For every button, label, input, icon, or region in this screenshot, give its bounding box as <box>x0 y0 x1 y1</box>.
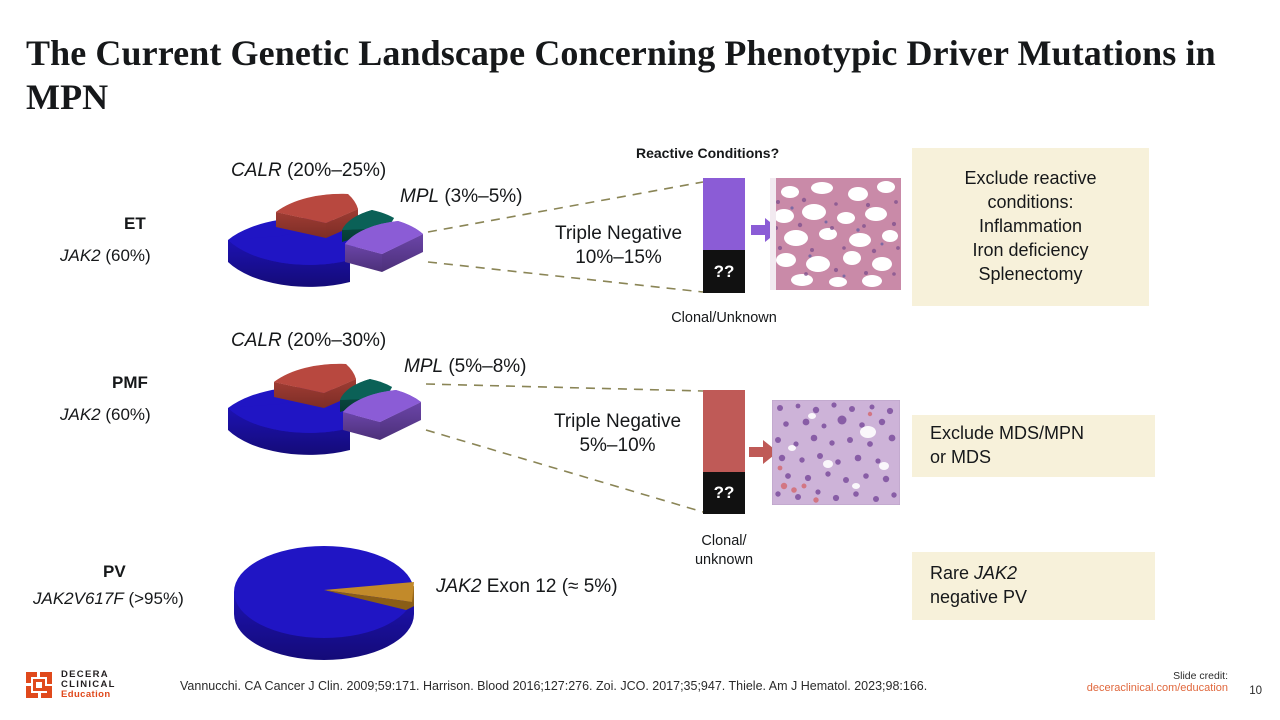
slide-credit-url[interactable]: deceraclinical.com/education <box>1087 682 1228 694</box>
disease-label-pmf: PMF <box>112 373 148 393</box>
bar-segment-triple-negative-et <box>703 178 745 250</box>
triple-negative-pmf-line2: 5%–10% <box>530 434 705 458</box>
callout-et-line3: Inflammation <box>964 215 1096 239</box>
histology-image-et <box>770 178 901 290</box>
callout-et-line5: Splenectomy <box>964 263 1096 287</box>
page-number: 10 <box>1249 685 1262 697</box>
slide-credit: Slide credit: deceraclinical.com/educati… <box>1087 670 1228 694</box>
bar-segment-triple-negative-pmf <box>703 390 745 472</box>
pie-chart-pv <box>228 548 433 653</box>
disease-label-pv: PV <box>103 562 126 582</box>
brand-logo-text: DECERA CLINICAL Education <box>61 670 116 700</box>
disease-sub-pmf-pct: (60%) <box>101 405 151 424</box>
disease-label-et: ET <box>124 214 146 234</box>
callout-pv-line1: Rare JAK2 <box>930 562 1027 586</box>
slide-title: The Current Genetic Landscape Concerning… <box>26 32 1216 120</box>
histology-image-pmf <box>772 400 900 505</box>
reactive-conditions-header: Reactive Conditions? <box>636 145 779 161</box>
slide-credit-label: Slide credit: <box>1087 670 1228 682</box>
pie-chart-pmf <box>222 352 437 472</box>
triple-negative-et-line1: Triple Negative <box>531 222 706 246</box>
disease-sub-et-gene: JAK2 <box>60 246 101 265</box>
logo-line-3: Education <box>61 690 116 700</box>
calr-label-pmf: CALR (20%–30%) <box>231 330 386 352</box>
mpl-pct-pmf: (5%–8%) <box>443 356 526 377</box>
brand-logo: DECERA CLINICAL Education <box>24 670 116 700</box>
callout-pv-pre: Rare <box>930 563 974 583</box>
triple-negative-pmf-line1: Triple Negative <box>530 410 705 434</box>
triple-negative-label-pmf: Triple Negative 5%–10% <box>530 410 705 458</box>
exon12-gene-pv: JAK2 <box>436 576 481 597</box>
callout-box-pmf: Exclude MDS/MPN or MDS <box>912 415 1155 477</box>
exon12-rest-pv: Exon 12 (≈ 5%) <box>481 576 617 597</box>
bar-caption-pmf-line1: Clonal/ <box>662 532 786 551</box>
disease-sub-pv-gene: JAK2V617F <box>33 589 124 608</box>
triple-negative-et-line2: 10%–15% <box>531 246 706 270</box>
slide-root: The Current Genetic Landscape Concerning… <box>0 0 1280 720</box>
citation-text: Vannucchi. CA Cancer J Clin. 2009;59:171… <box>180 679 927 693</box>
disease-sub-et: JAK2 (60%) <box>60 246 151 266</box>
callout-et-line2: conditions: <box>964 191 1096 215</box>
callout-pmf-line1: Exclude MDS/MPN <box>930 422 1084 446</box>
callout-text-pmf: Exclude MDS/MPN or MDS <box>930 422 1084 470</box>
bar-segment-unknown-et: ?? <box>703 250 745 293</box>
callout-box-et: Exclude reactive conditions: Inflammatio… <box>912 148 1149 306</box>
calr-gene-pmf: CALR <box>231 330 282 351</box>
disease-sub-pmf: JAK2 (60%) <box>60 405 151 425</box>
bar-caption-pmf: Clonal/ unknown <box>662 532 786 569</box>
callout-text-et: Exclude reactive conditions: Inflammatio… <box>964 167 1096 287</box>
callout-box-pv: Rare JAK2 negative PV <box>912 552 1155 620</box>
callout-text-pv: Rare JAK2 negative PV <box>930 562 1027 610</box>
calr-gene-et: CALR <box>231 160 282 181</box>
calr-pct-et: (20%–25%) <box>282 160 387 181</box>
bar-caption-et: Clonal/Unknown <box>655 310 793 326</box>
disease-sub-pmf-gene: JAK2 <box>60 405 101 424</box>
disease-sub-et-pct: (60%) <box>101 246 151 265</box>
decera-logo-icon <box>24 670 54 700</box>
callout-pmf-line2: or MDS <box>930 446 1084 470</box>
pie-chart-et <box>222 180 437 305</box>
calr-label-et: CALR (20%–25%) <box>231 160 386 182</box>
disease-sub-pv: JAK2V617F (>95%) <box>33 589 184 609</box>
mpl-pct-et: (3%–5%) <box>439 186 522 207</box>
triple-negative-bar-pmf: ?? <box>703 390 745 514</box>
exon12-label-pv: JAK2 Exon 12 (≈ 5%) <box>436 576 618 598</box>
triple-negative-bar-et: ?? <box>703 178 745 293</box>
triple-negative-label-et: Triple Negative 10%–15% <box>531 222 706 270</box>
callout-pv-gene: JAK2 <box>974 563 1017 583</box>
disease-sub-pv-pct: (>95%) <box>124 589 184 608</box>
callout-et-line4: Iron deficiency <box>964 239 1096 263</box>
calr-pct-pmf: (20%–30%) <box>282 330 387 351</box>
callout-et-line1: Exclude reactive <box>964 167 1096 191</box>
callout-pv-line2: negative PV <box>930 586 1027 610</box>
bar-segment-unknown-pmf: ?? <box>703 472 745 514</box>
bar-caption-pmf-line2: unknown <box>662 551 786 570</box>
